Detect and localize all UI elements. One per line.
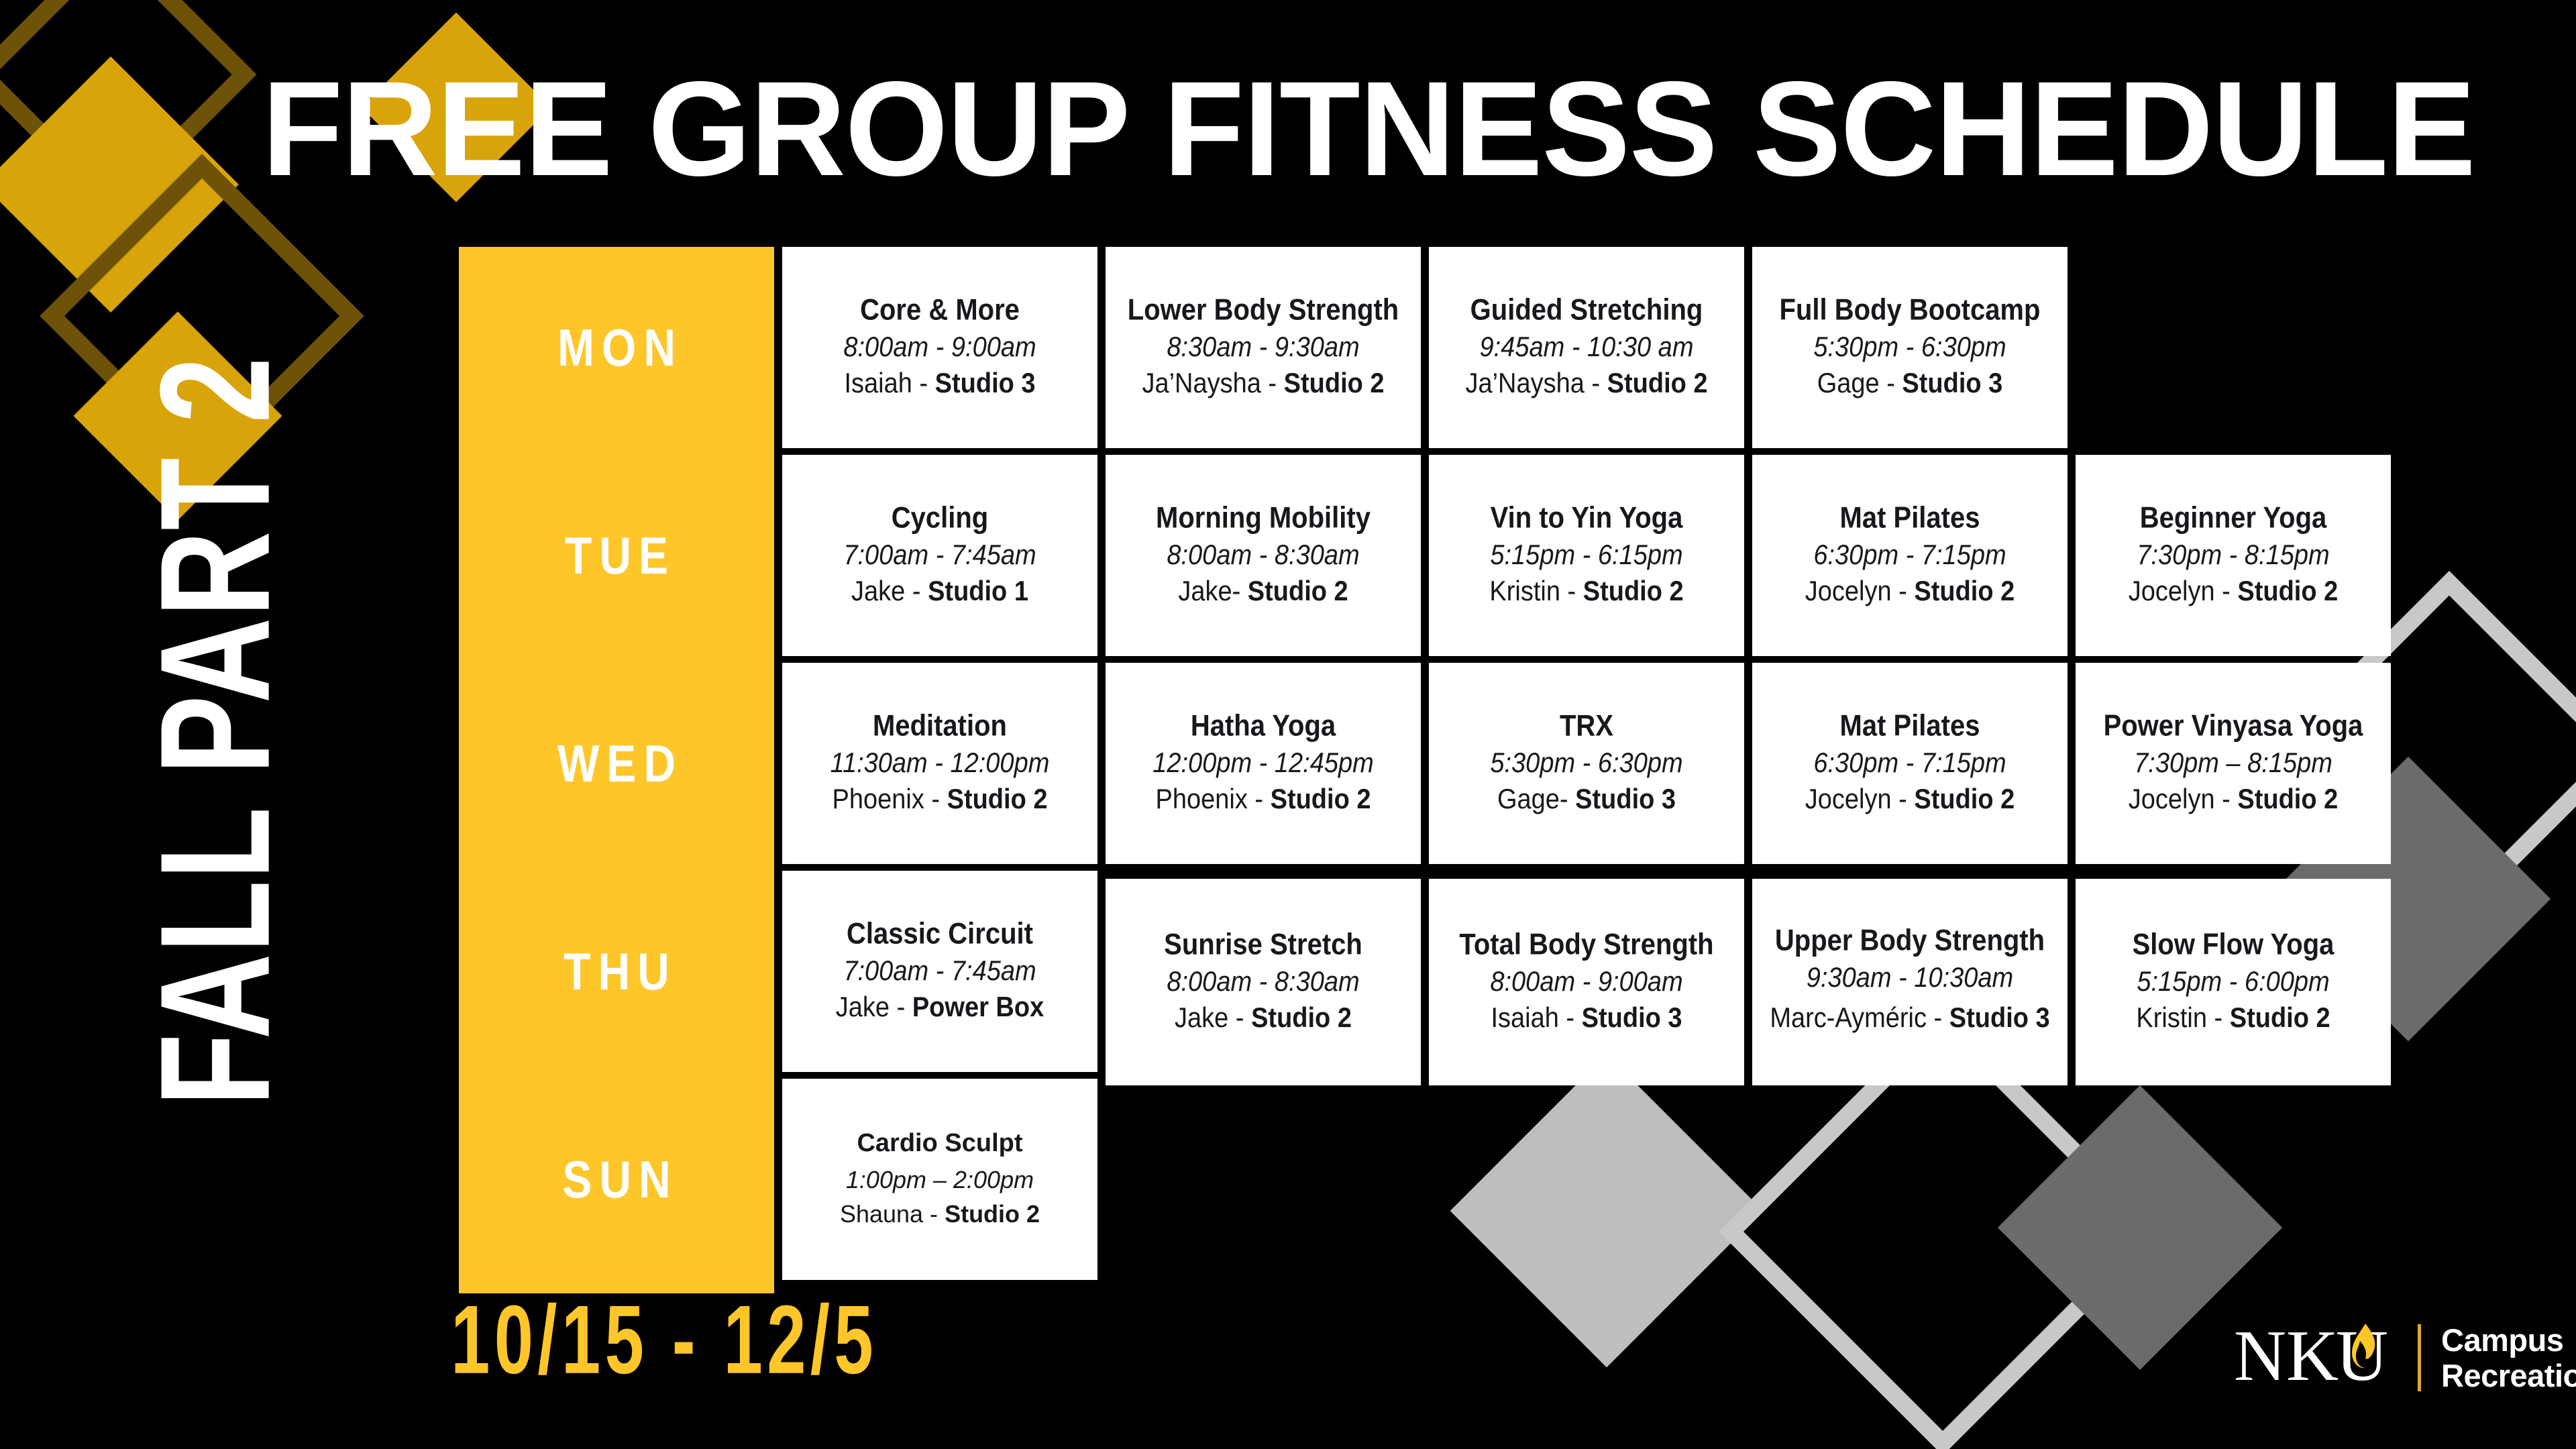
class-time: 8:00am - 9:00am (1490, 967, 1682, 998)
class-name: Full Body Bootcamp (1780, 294, 2041, 327)
class-time: 5:15pm - 6:00pm (2137, 967, 2329, 998)
class-name: Upper Body Strength (1775, 924, 2045, 957)
class-name: Lower Body Strength (1128, 294, 1399, 327)
class-instructor: Jake - (836, 992, 912, 1023)
class-instructor: Phoenix - (1156, 784, 1271, 815)
class-instructor-studio: Shauna - Studio 2 (840, 1200, 1040, 1228)
class-cell[interactable]: Mat Pilates6:30pm - 7:15pmJocelyn - Stud… (1752, 663, 2068, 864)
class-instructor: Isaiah - (1491, 1003, 1581, 1034)
class-name: Cardio Sculpt (857, 1130, 1022, 1157)
class-time: 7:00am - 7:45am (843, 957, 1036, 987)
class-instructor-studio: Isaiah - Studio 3 (1491, 1002, 1682, 1035)
class-instructor-studio: Jake - Power Box (836, 991, 1044, 1024)
class-time: 7:30pm – 8:15pm (2134, 749, 2332, 780)
class-name: Guided Stretching (1470, 294, 1703, 327)
class-cell[interactable]: Upper Body Strength9:30am - 10:30amMarc-… (1752, 879, 2068, 1085)
class-name: Sunrise Stretch (1164, 929, 1362, 961)
class-time: 9:30am - 10:30am (1807, 963, 2013, 994)
class-cell[interactable]: Sunrise Stretch8:00am - 8:30amJake - Stu… (1106, 879, 1421, 1085)
day-label-tue: TUE (459, 455, 774, 656)
class-name: Vin to Yin Yoga (1491, 502, 1683, 535)
class-instructor-studio: Isaiah - Studio 3 (844, 368, 1035, 400)
class-cell[interactable]: TRX5:30pm - 6:30pmGage- Studio 3 (1429, 663, 1744, 864)
class-instructor: Gage - (1817, 368, 1902, 399)
class-instructor: Jake - (1175, 1003, 1251, 1034)
class-name: Morning Mobility (1156, 502, 1371, 535)
nku-campus-recreation-logo: N K U Campus Recreation (2234, 1318, 2576, 1397)
class-cell[interactable]: Beginner Yoga7:30pm - 8:15pmJocelyn - St… (2076, 455, 2391, 656)
class-cell[interactable]: Core & More8:00am - 9:00amIsaiah - Studi… (782, 247, 1097, 448)
class-cell[interactable]: Mat Pilates6:30pm - 7:15pmJocelyn - Stud… (1752, 455, 2068, 656)
class-studio: Studio 2 (947, 784, 1048, 815)
class-name: Mat Pilates (1840, 710, 1980, 743)
class-instructor: Jocelyn - (1805, 576, 1915, 607)
class-studio: Studio 2 (2237, 784, 2338, 815)
logo-divider (2418, 1324, 2421, 1391)
class-time: 8:00am - 9:00am (843, 333, 1036, 364)
class-instructor: Jake - (851, 576, 928, 607)
day-label-text: MON (550, 317, 683, 378)
class-cell[interactable]: Morning Mobility8:00am - 8:30amJake- Stu… (1106, 455, 1421, 656)
logo-line-1: Campus (2441, 1322, 2576, 1358)
class-cell[interactable]: Cardio Sculpt1:00pm – 2:00pmShauna - Stu… (782, 1079, 1097, 1280)
class-studio: Studio 1 (928, 576, 1028, 607)
day-label-thu: THU (459, 871, 774, 1072)
class-name: Power Vinyasa Yoga (2104, 710, 2363, 743)
class-cell[interactable]: Total Body Strength8:00am - 9:00amIsaiah… (1429, 879, 1744, 1085)
class-instructor: Jocelyn - (2129, 784, 2238, 815)
class-time: 7:30pm - 8:15pm (2137, 541, 2329, 572)
class-instructor-studio: Kristin - Studio 2 (2136, 1002, 2330, 1035)
class-cell[interactable]: Hatha Yoga12:00pm - 12:45pmPhoenix - Stu… (1106, 663, 1421, 864)
decorative-diamond-lightgray-bottomleft (1450, 1055, 1764, 1368)
class-instructor-studio: Jake - Studio 2 (1175, 1002, 1352, 1035)
class-instructor: Kristin - (2136, 1003, 2229, 1034)
class-instructor-studio: Jocelyn - Studio 2 (1805, 576, 2015, 608)
class-cell[interactable]: Power Vinyasa Yoga7:30pm – 8:15pmJocelyn… (2076, 663, 2391, 864)
class-instructor-studio: Marc-Ayméric - Studio 3 (1770, 998, 2049, 1040)
class-instructor: Gage- (1497, 784, 1575, 815)
class-name: Total Body Strength (1459, 929, 1713, 961)
class-instructor-studio: Jocelyn - Studio 2 (2129, 576, 2339, 608)
day-label-text: THU (556, 941, 677, 1002)
class-instructor: Marc-Ayméric - (1770, 1003, 1949, 1034)
logo-text: Campus Recreation (2441, 1322, 2576, 1393)
class-studio: Studio 3 (1902, 368, 2002, 399)
class-time: 5:15pm - 6:15pm (1490, 541, 1682, 572)
page-title: FREE GROUP FITNESS SCHEDULE (165, 62, 2572, 197)
class-studio: Studio 2 (1914, 784, 2015, 815)
class-time: 5:30pm - 6:30pm (1490, 749, 1682, 780)
class-cell[interactable]: Vin to Yin Yoga5:15pm - 6:15pmKristin - … (1429, 455, 1744, 656)
class-instructor-studio: Gage- Studio 3 (1497, 784, 1676, 816)
class-studio: Studio 2 (1583, 576, 1684, 607)
class-studio: Studio 3 (1575, 784, 1676, 815)
day-label-text: TUE (557, 525, 676, 586)
class-time: 8:00am - 8:30am (1167, 541, 1359, 572)
logo-line-2: Recreation (2441, 1358, 2576, 1393)
class-name: Slow Flow Yoga (2133, 929, 2334, 961)
nku-wordmark-icon: N K U (2234, 1318, 2402, 1397)
class-studio: Studio 2 (2230, 1003, 2330, 1034)
svg-text:N: N (2234, 1318, 2286, 1396)
day-label-sun: SUN (459, 1079, 774, 1280)
svg-text:K: K (2286, 1318, 2339, 1396)
date-range: 10/15 - 12/5 (432, 1291, 897, 1389)
class-time: 9:45am - 10:30 am (1480, 333, 1694, 364)
class-name: Hatha Yoga (1191, 710, 1336, 743)
class-instructor-studio: Gage - Studio 3 (1817, 368, 2003, 400)
class-instructor: Shauna - (840, 1200, 945, 1228)
class-instructor-studio: Jake - Studio 1 (851, 576, 1028, 608)
class-instructor: Ja’Naysha - (1465, 368, 1607, 399)
class-name: Meditation (873, 710, 1007, 743)
class-time: 5:30pm - 6:30pm (1813, 333, 2006, 364)
class-name: Beginner Yoga (2140, 502, 2327, 535)
class-time: 6:30pm - 7:15pm (1813, 749, 2006, 780)
class-instructor: Phoenix - (833, 784, 947, 815)
class-time: 8:00am - 8:30am (1167, 967, 1359, 998)
class-cell[interactable]: Meditation11:30am - 12:00pmPhoenix - Stu… (782, 663, 1097, 864)
class-instructor-studio: Kristin - Studio 2 (1489, 576, 1683, 608)
class-studio: Studio 2 (1284, 368, 1385, 399)
class-instructor-studio: Ja’Naysha - Studio 2 (1465, 368, 1707, 400)
class-instructor: Jake- (1178, 576, 1247, 607)
class-instructor-studio: Jocelyn - Studio 2 (2129, 784, 2339, 816)
class-instructor-studio: Ja’Naysha - Studio 2 (1142, 368, 1384, 400)
class-instructor-studio: Jocelyn - Studio 2 (1805, 784, 2015, 816)
class-instructor-studio: Phoenix - Studio 2 (1156, 784, 1371, 816)
class-name: TRX (1560, 710, 1613, 743)
class-instructor-studio: Phoenix - Studio 2 (833, 784, 1048, 816)
class-studio: Studio 2 (1914, 576, 2015, 607)
class-time: 1:00pm – 2:00pm (846, 1167, 1034, 1193)
class-cell[interactable]: Cycling7:00am - 7:45amJake - Studio 1 (782, 455, 1097, 656)
class-instructor: Kristin - (1489, 576, 1582, 607)
class-instructor: Ja’Naysha - (1142, 368, 1283, 399)
class-name: Classic Circuit (847, 918, 1033, 951)
class-name: Cycling (892, 502, 988, 535)
class-cell[interactable]: Full Body Bootcamp5:30pm - 6:30pmGage - … (1752, 247, 2068, 448)
class-cell[interactable]: Lower Body Strength8:30am - 9:30amJa’Nay… (1106, 247, 1421, 448)
class-instructor-studio: Jake- Studio 2 (1178, 576, 1348, 608)
day-label-text: WED (550, 733, 683, 794)
class-instructor: Jocelyn - (1805, 784, 1915, 815)
class-studio: Studio 3 (1949, 1003, 2050, 1034)
class-instructor: Isaiah - (844, 368, 934, 399)
class-cell[interactable]: Slow Flow Yoga5:15pm - 6:00pmKristin - S… (2076, 879, 2391, 1085)
class-studio: Studio 3 (935, 368, 1036, 399)
class-studio: Studio 2 (1251, 1003, 1352, 1034)
class-studio: Studio 2 (945, 1200, 1040, 1228)
class-time: 12:00pm - 12:45pm (1152, 749, 1374, 780)
day-label-text: SUN (555, 1149, 678, 1210)
class-studio: Studio 2 (2237, 576, 2338, 607)
day-label-mon: MON (459, 247, 774, 448)
class-studio: Studio 2 (1271, 784, 1371, 815)
poster-canvas: FREE GROUP FITNESS SCHEDULE FALL PART 2 … (0, 0, 2576, 1449)
class-instructor: Jocelyn - (2129, 576, 2238, 607)
class-time: 11:30am - 12:00pm (830, 749, 1050, 780)
class-name: Mat Pilates (1840, 502, 1980, 535)
class-cell[interactable]: Guided Stretching9:45am - 10:30 amJa’Nay… (1429, 247, 1744, 448)
class-studio: Studio 3 (1582, 1003, 1682, 1034)
class-studio: Studio 2 (1248, 576, 1348, 607)
class-name: Core & More (860, 294, 1020, 327)
class-time: 6:30pm - 7:15pm (1813, 541, 2006, 572)
class-time: 8:30am - 9:30am (1167, 333, 1359, 364)
day-label-wed: WED (459, 663, 774, 864)
class-studio: Power Box (912, 992, 1044, 1023)
class-studio: Studio 2 (1607, 368, 1708, 399)
class-cell[interactable]: Classic Circuit7:00am - 7:45amJake - Pow… (782, 871, 1097, 1072)
class-time: 7:00am - 7:45am (843, 541, 1036, 572)
